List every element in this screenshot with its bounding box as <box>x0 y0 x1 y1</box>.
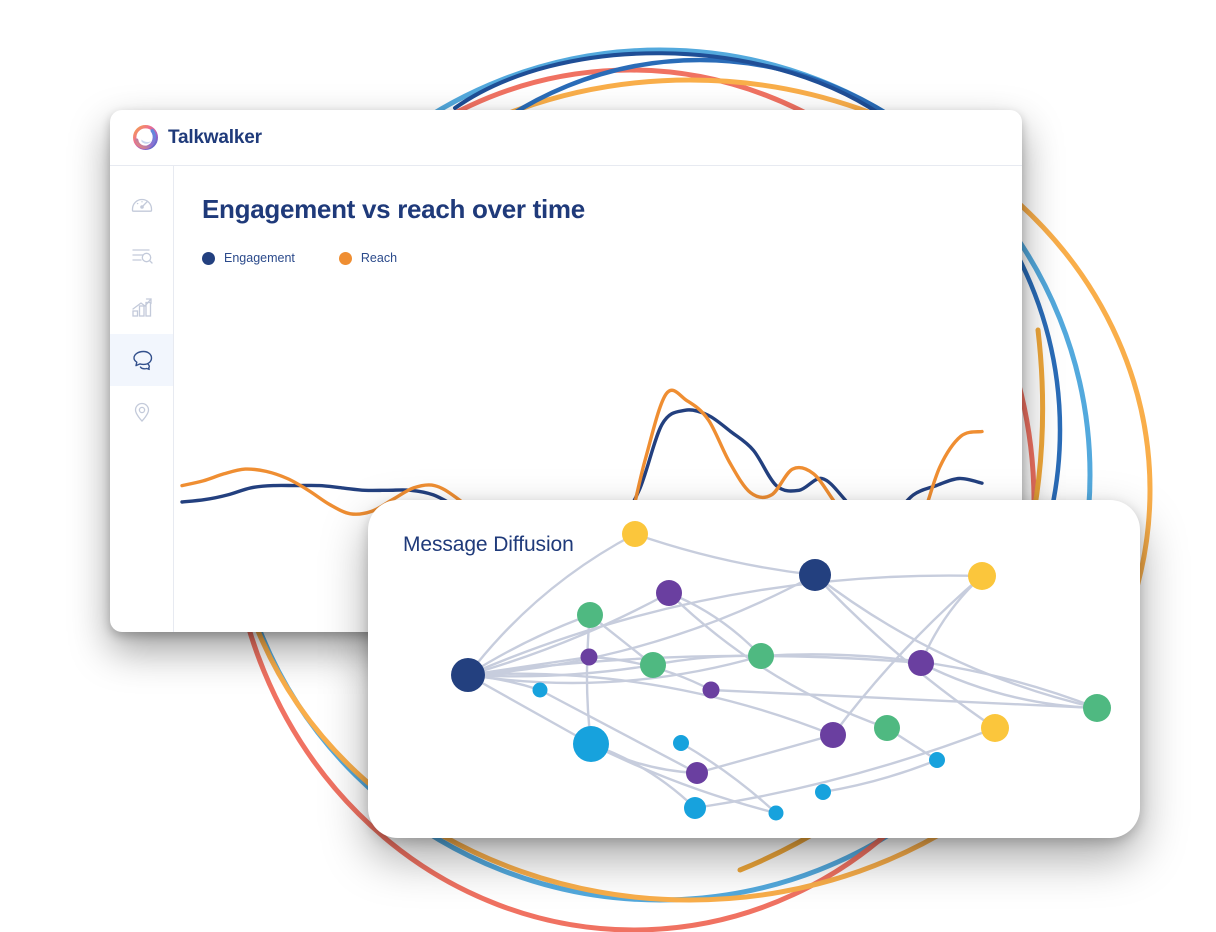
location-pin-icon <box>129 399 155 425</box>
network-node[interactable] <box>684 797 706 819</box>
network-nodes <box>451 521 1111 821</box>
network-node[interactable] <box>1083 694 1111 722</box>
network-node[interactable] <box>686 762 708 784</box>
sidebar-item-locations[interactable] <box>110 386 173 438</box>
network-node[interactable] <box>622 521 648 547</box>
gauge-icon <box>129 191 155 217</box>
message-diffusion-card: Message Diffusion <box>368 500 1140 838</box>
network-edge <box>635 534 815 575</box>
network-edge <box>587 615 591 744</box>
network-node[interactable] <box>656 580 682 606</box>
network-edge <box>921 576 982 663</box>
message-diffusion-network <box>368 500 1140 838</box>
network-edge <box>697 735 833 773</box>
network-node[interactable] <box>981 714 1009 742</box>
arc-deep-blue-icon <box>455 53 880 114</box>
network-edge <box>815 575 1097 708</box>
network-edges <box>468 534 1097 813</box>
sidebar-item-analytics[interactable] <box>110 282 173 334</box>
network-node[interactable] <box>820 722 846 748</box>
sidebar-item-mentions[interactable] <box>110 334 173 386</box>
network-node[interactable] <box>908 650 934 676</box>
network-node[interactable] <box>874 715 900 741</box>
sidebar-item-search[interactable] <box>110 230 173 282</box>
legend-dot-reach <box>339 252 352 265</box>
screenshot-stage: Talkwalker <box>0 0 1216 932</box>
search-list-icon <box>129 243 155 269</box>
legend-label-reach: Reach <box>361 251 397 265</box>
legend-item-reach[interactable]: Reach <box>339 251 397 265</box>
sidebar-item-dashboard[interactable] <box>110 178 173 230</box>
network-edge <box>540 690 697 773</box>
network-node[interactable] <box>533 683 548 698</box>
network-edge <box>669 593 761 656</box>
network-node[interactable] <box>929 752 945 768</box>
chart-legend: Engagement Reach <box>202 251 1022 265</box>
brand-name: Talkwalker <box>168 127 262 149</box>
network-node[interactable] <box>748 643 774 669</box>
network-edge <box>823 760 937 792</box>
network-node[interactable] <box>799 559 831 591</box>
bar-chart-icon <box>129 295 155 321</box>
network-edge <box>591 744 695 808</box>
speech-bubble-icon <box>129 347 155 373</box>
network-node[interactable] <box>640 652 666 678</box>
network-node[interactable] <box>703 682 720 699</box>
network-edge <box>815 575 995 728</box>
network-node[interactable] <box>769 806 784 821</box>
talkwalker-swirl-icon <box>132 124 159 151</box>
brand-logo[interactable]: Talkwalker <box>132 124 262 151</box>
network-edge <box>468 675 591 744</box>
dashboard-header: Talkwalker <box>110 110 1022 166</box>
legend-item-engagement[interactable]: Engagement <box>202 251 295 265</box>
network-node[interactable] <box>968 562 996 590</box>
legend-dot-engagement <box>202 252 215 265</box>
legend-label-engagement: Engagement <box>224 251 295 265</box>
network-node[interactable] <box>573 726 609 762</box>
page-title: Engagement vs reach over time <box>202 194 1022 225</box>
sidebar <box>110 166 174 632</box>
network-node[interactable] <box>581 649 598 666</box>
network-node[interactable] <box>451 658 485 692</box>
network-node[interactable] <box>577 602 603 628</box>
network-node[interactable] <box>815 784 831 800</box>
network-node[interactable] <box>673 735 689 751</box>
